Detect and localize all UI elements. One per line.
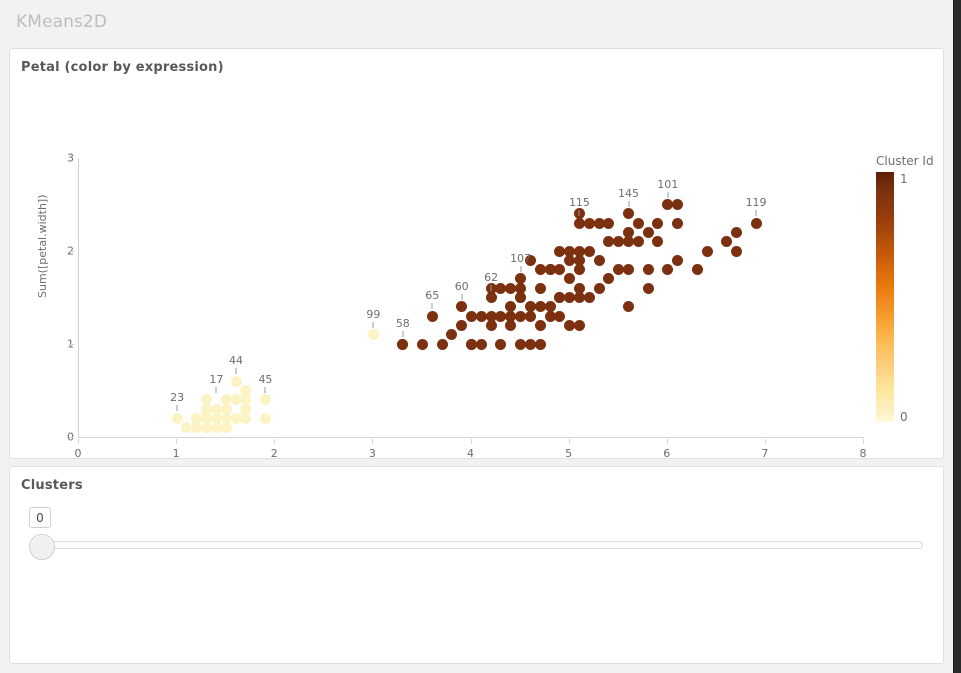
data-point[interactable] [495,283,506,294]
data-point[interactable] [368,329,379,340]
x-tick-label: 8 [860,447,867,460]
x-tick-mark [765,439,766,444]
data-point[interactable] [437,339,448,350]
x-tick-label: 6 [663,447,670,460]
data-point-label: 65 [425,289,439,302]
scatter-plot[interactable]: Sum([petal.width]) Sum([petal.length]) 0… [10,49,943,458]
data-point[interactable] [515,283,526,294]
data-point[interactable] [623,264,634,275]
x-tick-mark [863,439,864,444]
chart-panel: Petal (color by expression) Sum([petal.w… [9,48,944,459]
data-label-leader [373,322,374,328]
x-tick-label: 3 [369,447,376,460]
data-point[interactable] [260,413,271,424]
data-point[interactable] [231,376,242,387]
y-axis-ticks: 0123 [50,158,74,438]
data-point-label: 99 [366,308,380,321]
data-point[interactable] [427,311,438,322]
app-title-bar: KMeans2D [0,0,953,44]
y-axis-title: Sum([petal.width]) [36,194,49,298]
data-point-label: 62 [484,271,498,284]
data-label-leader [628,201,629,207]
data-point[interactable] [456,320,467,331]
y-tick-mark [69,344,74,345]
data-point[interactable] [535,339,546,350]
legend-max-label: 1 [900,172,908,186]
data-point[interactable] [633,218,644,229]
legend-min-label: 0 [900,410,908,424]
data-point-label: 119 [746,196,767,209]
data-point[interactable] [603,218,614,229]
data-label-leader [432,303,433,309]
plot-area[interactable]: 231744459958656062107115145101119 [78,158,864,438]
data-point[interactable] [672,218,683,229]
data-point[interactable] [417,339,428,350]
data-point[interactable] [623,227,634,238]
data-label-leader [216,387,217,393]
data-point[interactable] [731,227,742,238]
data-point[interactable] [603,273,614,284]
x-tick-label: 1 [173,447,180,460]
data-point[interactable] [505,283,516,294]
data-point[interactable] [643,227,654,238]
app-title: KMeans2D [16,12,107,32]
x-tick-mark [274,439,275,444]
clusters-slider-value[interactable]: 0 [29,507,51,528]
data-point-label: 115 [569,196,590,209]
data-label-leader [177,405,178,411]
y-tick-mark [69,251,74,252]
x-tick-label: 4 [467,447,474,460]
data-point[interactable] [201,422,212,433]
data-point[interactable] [397,339,408,350]
data-point[interactable] [535,320,546,331]
data-point-label: 45 [258,373,272,386]
clusters-panel: Clusters 0 [9,466,944,664]
data-point[interactable] [633,236,644,247]
data-point[interactable] [594,255,605,266]
data-point[interactable] [574,283,585,294]
data-point[interactable] [751,218,762,229]
data-point[interactable] [240,404,251,415]
data-point[interactable] [211,422,222,433]
data-point[interactable] [525,311,536,322]
data-label-leader [579,210,580,216]
data-point[interactable] [476,339,487,350]
data-point[interactable] [692,264,703,275]
data-label-leader [520,266,521,272]
x-tick-mark [471,439,472,444]
data-point[interactable] [545,311,556,322]
data-point[interactable] [731,246,742,257]
legend-gradient-bar[interactable] [876,172,894,422]
data-point[interactable] [505,301,516,312]
data-point[interactable] [652,236,663,247]
data-point[interactable] [623,301,634,312]
x-tick-mark [176,439,177,444]
data-point[interactable] [574,320,585,331]
clusters-slider-handle[interactable] [29,534,55,560]
x-tick-mark [569,439,570,444]
data-point[interactable] [672,199,683,210]
data-point[interactable] [515,273,526,284]
data-point-label: 107 [510,252,531,265]
data-point[interactable] [643,264,654,275]
data-point-label: 44 [229,354,243,367]
data-label-leader [756,210,757,216]
y-tick-mark [69,437,74,438]
legend-body: 1 0 [876,172,956,422]
x-tick-label: 2 [271,447,278,460]
data-point[interactable] [535,264,546,275]
data-point[interactable] [702,246,713,257]
x-tick-mark [78,439,79,444]
data-label-leader [461,294,462,300]
data-point[interactable] [201,394,212,405]
data-point-label: 60 [455,280,469,293]
data-point-label: 145 [618,187,639,200]
data-point[interactable] [554,264,565,275]
data-point[interactable] [466,339,477,350]
data-point[interactable] [535,283,546,294]
data-point[interactable] [554,311,565,322]
data-point[interactable] [721,236,732,247]
data-point[interactable] [584,246,595,257]
data-label-leader [491,285,492,291]
data-point[interactable] [446,329,457,340]
x-axis-ticks: 012345678 [78,439,864,463]
data-point[interactable] [584,292,595,303]
clusters-panel-title: Clusters [10,467,943,493]
x-tick-label: 7 [761,447,768,460]
data-point-label: 101 [657,178,678,191]
data-point[interactable] [240,385,251,396]
data-point[interactable] [594,283,605,294]
x-tick-label: 0 [75,447,82,460]
data-point[interactable] [221,422,232,433]
legend-title: Cluster Id [876,154,956,168]
data-point-label: 23 [170,391,184,404]
data-point[interactable] [172,413,183,424]
application-window: KMeans2D Petal (color by expression) Sum… [0,0,954,673]
data-point[interactable] [672,255,683,266]
data-point-label: 17 [209,373,223,386]
data-point[interactable] [643,283,654,294]
data-label-leader [265,387,266,393]
color-legend: Cluster Id 1 0 [876,154,956,422]
data-point[interactable] [623,208,634,219]
x-tick-mark [372,439,373,444]
data-point[interactable] [564,273,575,284]
data-point[interactable] [260,394,271,405]
data-point[interactable] [456,301,467,312]
y-tick-label: 3 [67,152,74,165]
data-point[interactable] [495,339,506,350]
x-tick-mark [667,439,668,444]
data-point[interactable] [652,218,663,229]
data-label-leader [402,331,403,337]
data-label-leader [667,192,668,198]
x-tick-label: 5 [565,447,572,460]
clusters-slider-track[interactable] [39,541,923,549]
data-label-leader [236,368,237,374]
data-point-label: 58 [396,317,410,330]
data-point[interactable] [662,264,673,275]
clusters-slider[interactable]: 0 [21,507,929,567]
